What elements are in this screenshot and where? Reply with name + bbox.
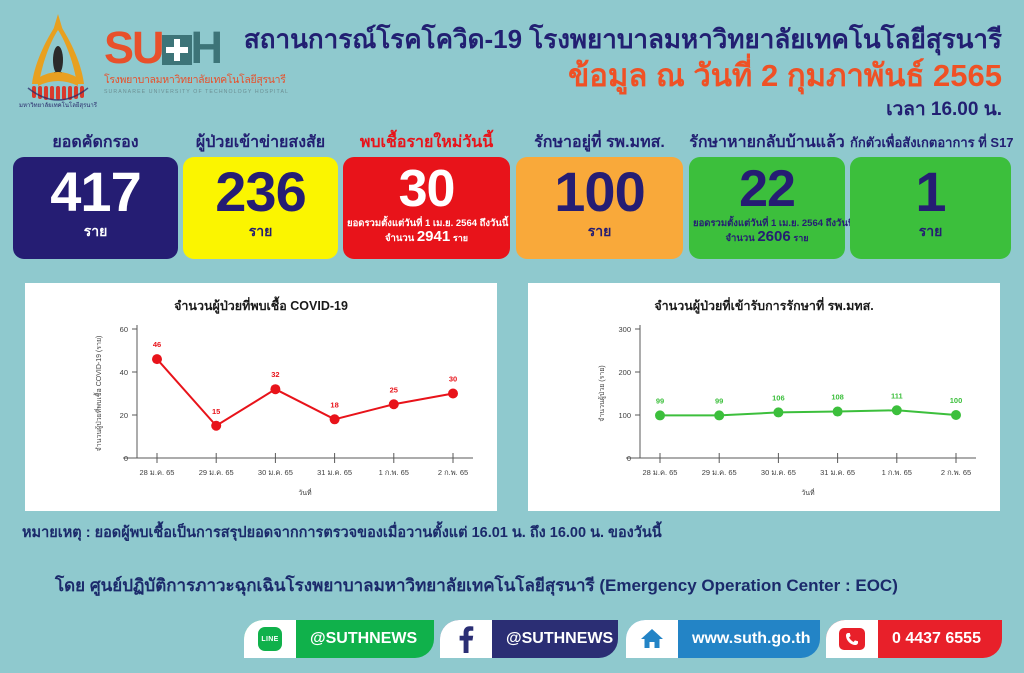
stat-card-new-cases[interactable]: พบเชื้อรายใหม่วันนี้ 30 ยอดรวมตั้งแต่วัน…: [343, 133, 510, 259]
stat-cum-value: 2941: [417, 228, 450, 245]
stat-box: 417 ราย: [13, 157, 178, 259]
stat-card-recovered[interactable]: รักษาหายกลับบ้านแล้ว 22 ยอดรวมตั้งแต่วัน…: [689, 133, 845, 259]
stat-cum-suffix: ราย: [793, 233, 808, 243]
stat-card-suspected[interactable]: ผู้ป่วยเข้าข่ายสงสัย 236 ราย: [183, 133, 338, 259]
stat-cum-prefix: จำนวน: [385, 233, 414, 244]
report-date: ข้อมูล ณ วันที่ 2 กุมภาพันธ์ 2565: [244, 56, 1002, 96]
svg-text:28 ม.ค. 65: 28 ม.ค. 65: [643, 468, 678, 477]
stat-box: 22 ยอดรวมตั้งแต่วันที่ 1 เม.ย. 2564 ถึงว…: [689, 157, 845, 259]
svg-text:28 ม.ค. 65: 28 ม.ค. 65: [140, 468, 175, 477]
stat-cum-prefix: จำนวน: [725, 233, 754, 244]
stat-cumulative-total: จำนวน 2941 ราย: [343, 230, 510, 245]
social-label: www.suth.go.th: [678, 620, 820, 658]
stat-cum-value: 2606: [757, 228, 790, 245]
svg-text:วันที่: วันที่: [298, 488, 312, 497]
social-badges-row: LINE @SUTHNEWS @SUTHNEWS www.suth.go.th: [0, 620, 1024, 666]
sut-university-seal-icon: มหาวิทยาลัยเทคโนโลยีสุรนารี: [14, 8, 102, 112]
stat-value: 236: [183, 161, 338, 223]
stat-label: รักษาหายกลับบ้านแล้ว: [689, 133, 845, 157]
svg-text:30 ม.ค. 65: 30 ม.ค. 65: [761, 468, 796, 477]
svg-text:60: 60: [120, 325, 128, 334]
svg-text:2 ก.พ. 65: 2 ก.พ. 65: [941, 468, 971, 477]
social-label: 0 4437 6555: [878, 620, 1002, 658]
report-time: เวลา 16.00 น.: [244, 96, 1002, 124]
phone-icon: [826, 620, 878, 658]
stat-label: ยอดคัดกรอง: [13, 133, 178, 157]
svg-text:31 ม.ค. 65: 31 ม.ค. 65: [820, 468, 855, 477]
footer-eoc: โดย ศูนย์ปฏิบัติการภาวะฉุกเฉินโรงพยาบาลม…: [55, 572, 898, 599]
svg-text:32: 32: [271, 370, 279, 379]
home-icon: [626, 620, 678, 658]
stat-unit: ราย: [183, 223, 338, 240]
social-badge-line[interactable]: LINE @SUTHNEWS: [244, 620, 434, 658]
stat-value: 1: [850, 161, 1011, 223]
svg-text:จำนวนผู้ป่วย (ราย): จำนวนผู้ป่วย (ราย): [598, 365, 606, 422]
chart-new-cases-svg: 020406028 ม.ค. 6529 ม.ค. 6530 ม.ค. 6531 …: [25, 283, 497, 511]
social-badge-facebook[interactable]: @SUTHNEWS: [440, 620, 618, 658]
stat-card-quarantine-s17[interactable]: กักตัวเพื่อสังเกตอาการ ที่ S17 1 ราย: [850, 133, 1011, 259]
svg-text:31 ม.ค. 65: 31 ม.ค. 65: [317, 468, 352, 477]
svg-text:15: 15: [212, 407, 220, 416]
page-title: สถานการณ์โรคโควิด-19 โรงพยาบาลมหาวิทยาลั…: [244, 22, 1002, 56]
suth-plus-icon: [162, 35, 192, 65]
svg-text:46: 46: [153, 340, 161, 349]
stat-label: กักตัวเพื่อสังเกตอาการ ที่ S17: [850, 133, 1011, 157]
svg-text:1 ก.พ. 65: 1 ก.พ. 65: [882, 468, 912, 477]
svg-text:20: 20: [120, 411, 128, 420]
svg-text:มหาวิทยาลัยเทคโนโลยีสุรนารี: มหาวิทยาลัยเทคโนโลยีสุรนารี: [19, 101, 98, 109]
svg-text:25: 25: [390, 385, 398, 394]
stat-unit: ราย: [13, 223, 178, 240]
header: มหาวิทยาลัยเทคโนโลยีสุรนารี SUH โรงพยาบา…: [0, 0, 1024, 130]
svg-text:วันที่: วันที่: [801, 488, 815, 497]
header-titles: สถานการณ์โรคโควิด-19 โรงพยาบาลมหาวิทยาลั…: [244, 22, 1002, 124]
social-label: @SUTHNEWS: [492, 620, 618, 658]
stat-card-screened[interactable]: ยอดคัดกรอง 417 ราย: [13, 133, 178, 259]
svg-text:111: 111: [891, 391, 903, 400]
svg-text:100: 100: [950, 396, 963, 405]
svg-text:29 ม.ค. 65: 29 ม.ค. 65: [199, 468, 234, 477]
svg-text:99: 99: [715, 396, 723, 405]
stat-card-in-treatment[interactable]: รักษาอยู่ที่ รพ.มทส. 100 ราย: [516, 133, 683, 259]
suth-mark-h: H: [191, 22, 222, 73]
stat-value: 22: [689, 161, 845, 217]
chart-panel-in-treatment: จำนวนผู้ป่วยที่เข้ารับการรักษาที่ รพ.มทส…: [528, 283, 1000, 511]
social-badge-phone[interactable]: 0 4437 6555: [826, 620, 1002, 658]
stat-box: 30 ยอดรวมตั้งแต่วันที่ 1 เม.ย. 2564 ถึงว…: [343, 157, 510, 259]
line-icon: LINE: [244, 620, 296, 658]
svg-text:106: 106: [772, 393, 785, 402]
svg-text:30 ม.ค. 65: 30 ม.ค. 65: [258, 468, 293, 477]
stat-cards-row: ยอดคัดกรอง 417 ราย ผู้ป่วยเข้าข่ายสงสัย …: [0, 133, 1024, 275]
stat-box: 1 ราย: [850, 157, 1011, 259]
svg-text:1 ก.พ. 65: 1 ก.พ. 65: [379, 468, 409, 477]
svg-text:2 ก.พ. 65: 2 ก.พ. 65: [438, 468, 468, 477]
svg-text:18: 18: [330, 400, 338, 409]
svg-text:0: 0: [627, 454, 631, 463]
stat-value: 100: [516, 161, 683, 223]
social-badge-website[interactable]: www.suth.go.th: [626, 620, 820, 658]
chart-in-treatment-svg: 010020030028 ม.ค. 6529 ม.ค. 6530 ม.ค. 65…: [528, 283, 1000, 511]
stat-cumulative-total: จำนวน 2606 ราย: [689, 230, 845, 245]
svg-text:40: 40: [120, 368, 128, 377]
line-icon-text: LINE: [261, 636, 278, 643]
stat-label: พบเชื้อรายใหม่วันนี้: [343, 133, 510, 157]
stat-unit: ราย: [850, 223, 1011, 240]
svg-text:จำนวนผู้ป่วยที่พบเชื้อ COVID-1: จำนวนผู้ป่วยที่พบเชื้อ COVID-19 (ราย): [92, 336, 103, 452]
stat-value: 417: [13, 161, 178, 223]
svg-text:100: 100: [618, 411, 631, 420]
stat-box: 100 ราย: [516, 157, 683, 259]
chart-panel-new-cases: จำนวนผู้ป่วยที่พบเชื้อ COVID-19 02040602…: [25, 283, 497, 511]
suth-mark-su: SU: [104, 22, 163, 73]
stat-label: ผู้ป่วยเข้าข่ายสงสัย: [183, 133, 338, 157]
svg-text:30: 30: [449, 375, 457, 384]
social-label: @SUTHNEWS: [296, 620, 434, 658]
stat-cum-suffix: ราย: [453, 233, 468, 243]
svg-text:29 ม.ค. 65: 29 ม.ค. 65: [702, 468, 737, 477]
stat-box: 236 ราย: [183, 157, 338, 259]
svg-text:200: 200: [618, 368, 631, 377]
footer-note: หมายเหตุ : ยอดผู้พบเชื้อเป็นการสรุปยอดจา…: [22, 521, 662, 544]
stat-unit: ราย: [516, 223, 683, 240]
svg-text:99: 99: [656, 396, 664, 405]
svg-text:300: 300: [618, 325, 631, 334]
dashboard-page: มหาวิทยาลัยเทคโนโลยีสุรนารี SUH โรงพยาบา…: [0, 0, 1024, 673]
stat-value: 30: [343, 161, 510, 217]
svg-text:0: 0: [124, 454, 128, 463]
facebook-icon: [440, 620, 492, 658]
svg-text:108: 108: [831, 393, 844, 402]
stat-label: รักษาอยู่ที่ รพ.มทส.: [516, 133, 683, 157]
